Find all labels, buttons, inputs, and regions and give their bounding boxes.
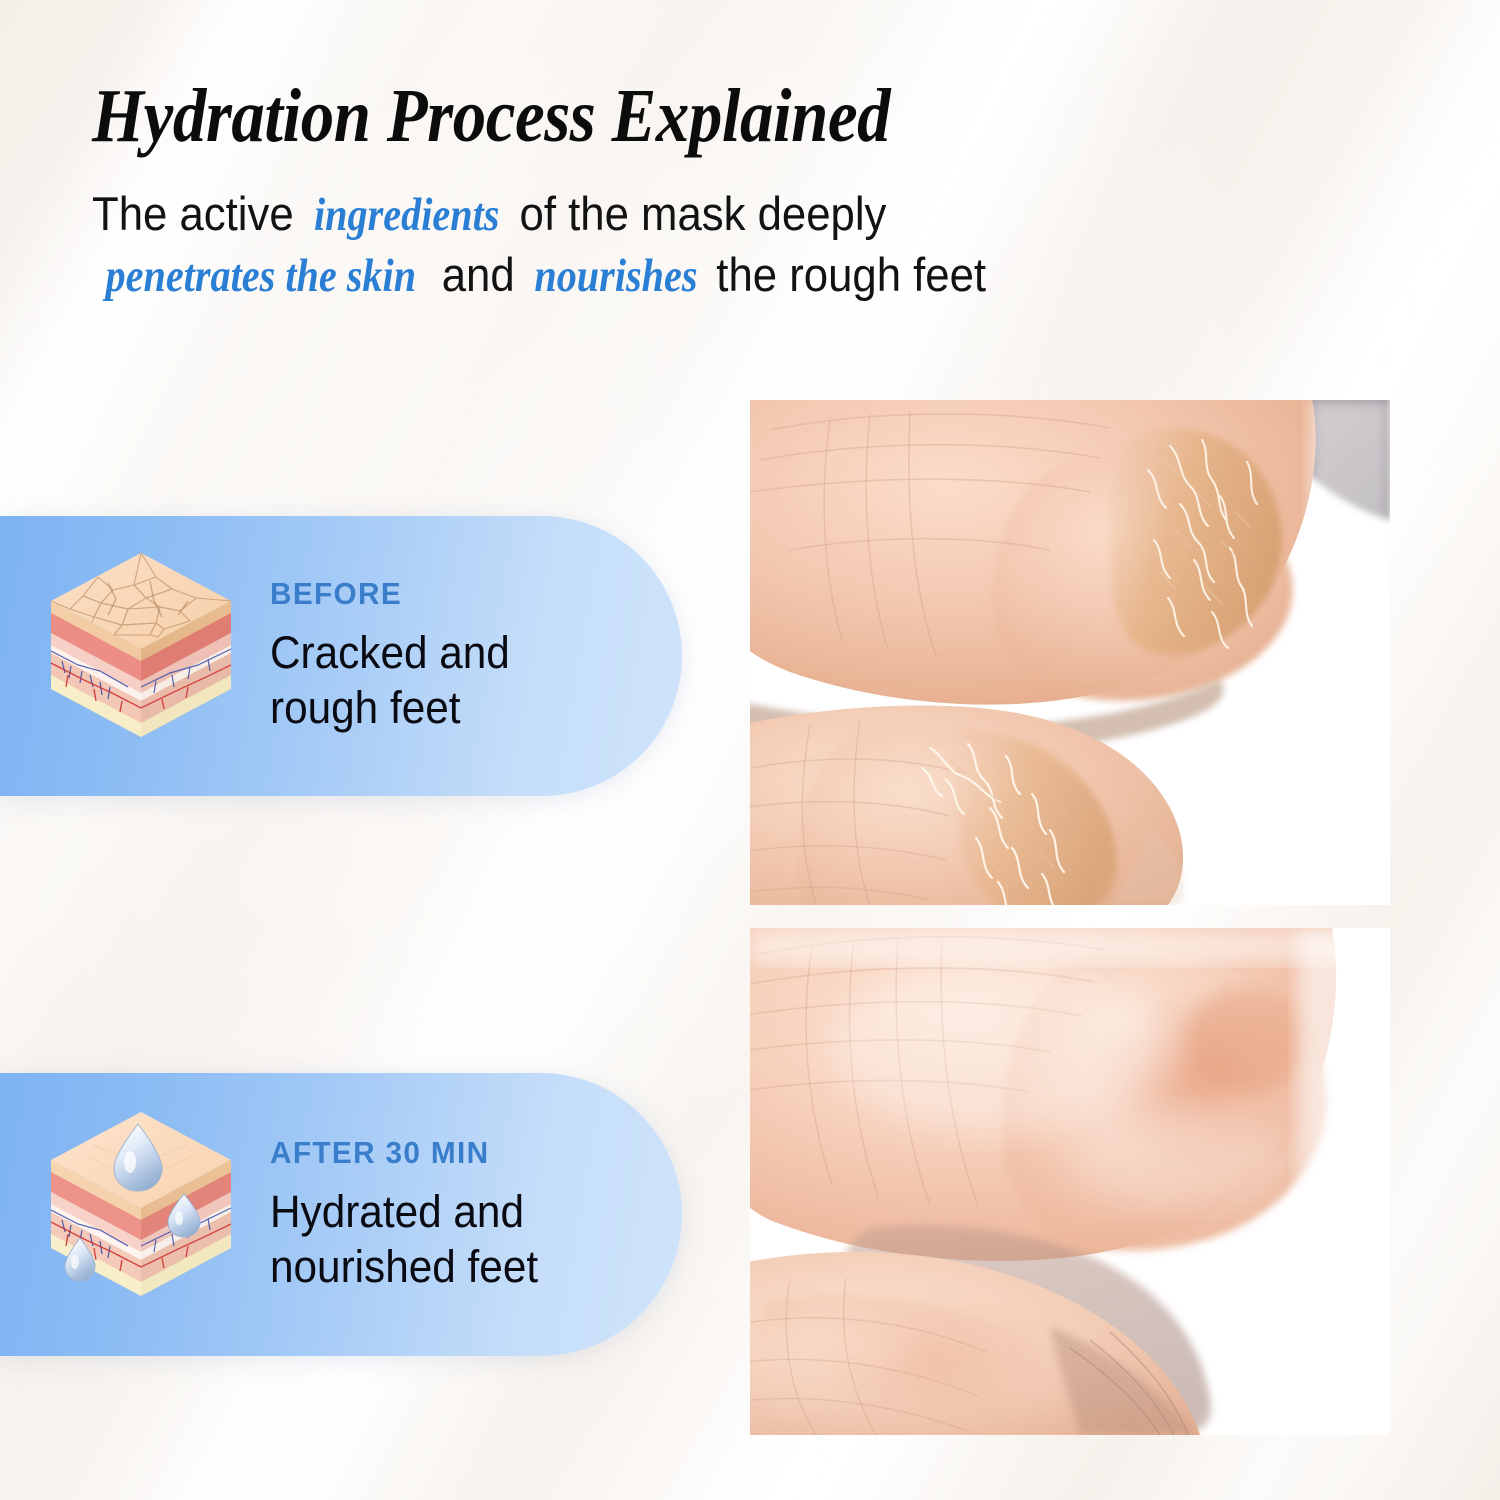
subtitle-text-1: The active <box>92 187 306 240</box>
badge-after: AFTER 30 MIN Hydrated and nourished feet <box>0 1073 682 1356</box>
subtitle-text-2: of the mask deeply <box>507 187 886 240</box>
subtitle-emphasis-penetrates: penetrates the skin <box>106 246 417 306</box>
photo-cracked-heels <box>750 400 1390 905</box>
skin-cross-section-hydrated-icon <box>38 1100 248 1330</box>
badge-before-text: BEFORE Cracked and rough feet <box>248 576 682 736</box>
badge-before-kicker: BEFORE <box>270 576 627 612</box>
badge-after-text: AFTER 30 MIN Hydrated and nourished feet <box>248 1135 682 1295</box>
subtitle-text-3: and <box>430 248 527 301</box>
header-block: Hydration Process Explained The active i… <box>92 78 1212 306</box>
page-title: Hydration Process Explained <box>92 78 1078 154</box>
subtitle-emphasis-nourishes: nourishes <box>534 246 697 306</box>
subtitle-text-4: the rough feet <box>704 248 986 301</box>
badge-before-title: Cracked and rough feet <box>270 626 620 736</box>
infographic-canvas: Hydration Process Explained The active i… <box>0 0 1500 1500</box>
page-subtitle: The active ingredients of the mask deepl… <box>92 184 1134 306</box>
photo-smooth-heels <box>750 928 1390 1435</box>
badge-before: BEFORE Cracked and rough feet <box>0 516 682 796</box>
badge-after-title: Hydrated and nourished feet <box>270 1185 620 1295</box>
skin-cross-section-cracked-icon <box>38 541 248 771</box>
badge-after-kicker: AFTER 30 MIN <box>270 1135 627 1171</box>
subtitle-emphasis-ingredients: ingredients <box>314 185 499 245</box>
